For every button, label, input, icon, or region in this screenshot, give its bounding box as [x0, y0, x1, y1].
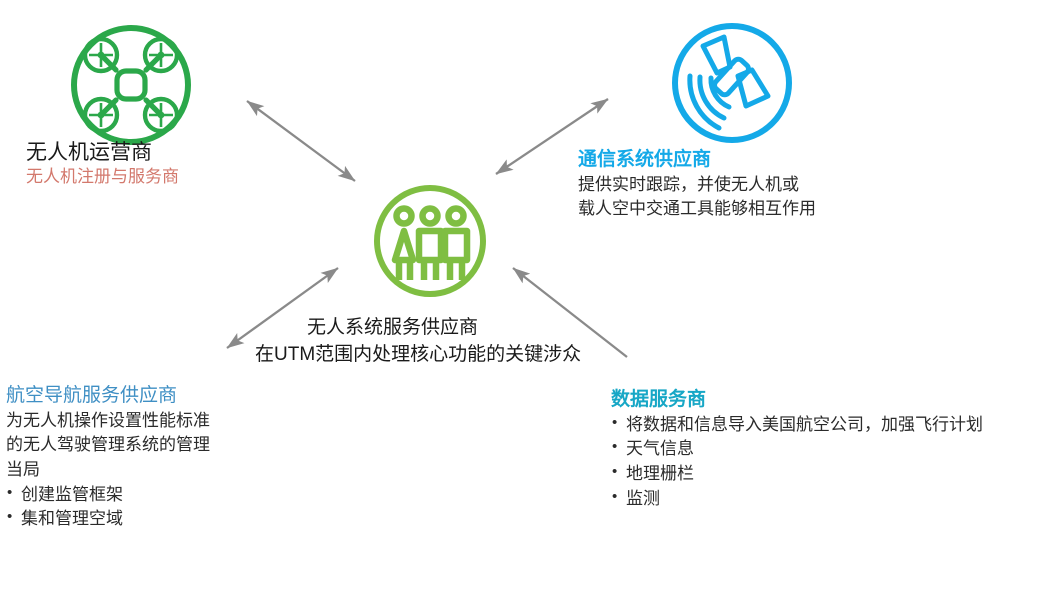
- node-data-service-provider[interactable]: 数据服务商 将数据和信息导入美国航空公司，加强飞行计划 天气信息 地理栅栏 监测: [611, 388, 1040, 511]
- list-item: 天气信息: [611, 437, 1040, 462]
- center-subtitle: 在UTM范围内处理核心功能的关键涉众: [255, 339, 581, 366]
- node-description: 提供实时跟踪，并使无人机或 载人空中交通工具能够相互作用: [578, 173, 816, 222]
- description-line: 当局: [6, 458, 210, 483]
- node-title: 数据服务商: [611, 388, 1040, 413]
- node-description: 为无人机操作设置性能标准 的无人驾驶管理系统的管理 当局: [6, 409, 210, 483]
- description-line: 载人空中交通工具能够相互作用: [578, 197, 816, 222]
- node-air-navigation-service-provider[interactable]: 航空导航服务供应商 为无人机操作设置性能标准 的无人驾驶管理系统的管理 当局 创…: [6, 384, 210, 532]
- node-bullet-list: 将数据和信息导入美国航空公司，加强飞行计划 天气信息 地理栅栏 监测: [611, 413, 1040, 512]
- node-uas-service-supplier[interactable]: 无人系统服务供应商 在UTM范围内处理核心功能的关键涉众: [255, 312, 581, 366]
- node-title: 通信系统供应商: [578, 148, 816, 173]
- three-people-icon: [369, 180, 491, 307]
- quadcopter-drone-icon: [68, 22, 194, 153]
- node-title: 无人机运营商: [26, 140, 179, 166]
- list-item: 创建监管框架: [6, 483, 210, 508]
- node-title: 航空导航服务供应商: [6, 384, 210, 409]
- arrow-center-to-drone-operator: [247, 101, 355, 181]
- diagram-canvas: 无人机运营商 无人机注册与服务商 通信系统供应商 提供实时跟踪，并使无人机或 载…: [0, 0, 1040, 593]
- node-communication-system-provider[interactable]: 通信系统供应商 提供实时跟踪，并使无人机或 载人空中交通工具能够相互作用: [578, 148, 816, 222]
- node-subtitle: 无人机注册与服务商: [26, 166, 179, 188]
- center-title: 无人系统服务供应商: [255, 312, 581, 339]
- list-item: 地理栅栏: [611, 462, 1040, 487]
- list-item: 监测: [611, 487, 1040, 512]
- node-drone-operator[interactable]: 无人机运营商 无人机注册与服务商: [26, 140, 179, 188]
- list-item: 将数据和信息导入美国航空公司，加强飞行计划: [611, 413, 1040, 438]
- description-line: 为无人机操作设置性能标准: [6, 409, 210, 434]
- satellite-icon: [667, 18, 797, 153]
- node-bullet-list: 创建监管框架 集和管理空域: [6, 483, 210, 532]
- description-line: 的无人驾驶管理系统的管理: [6, 433, 210, 458]
- list-item: 集和管理空域: [6, 507, 210, 532]
- description-line: 提供实时跟踪，并使无人机或: [578, 173, 816, 198]
